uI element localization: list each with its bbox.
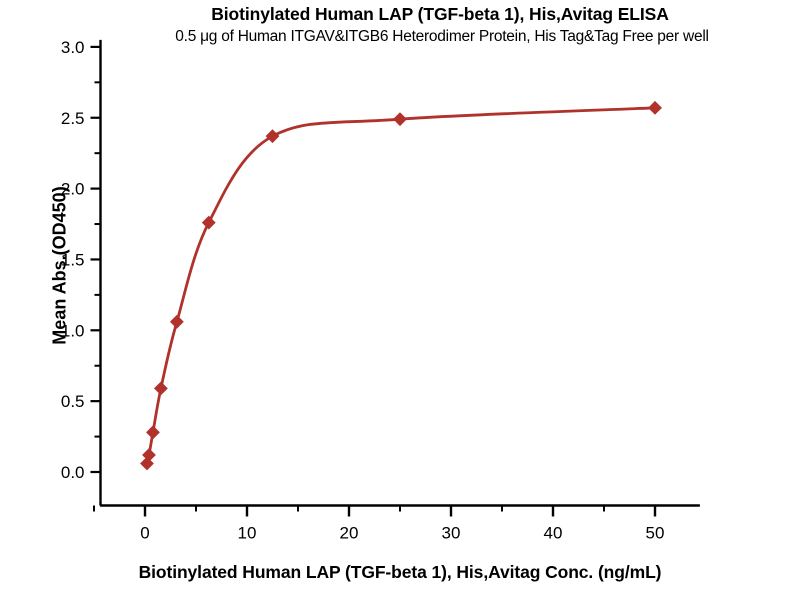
- x-tick-label: 30: [442, 524, 461, 543]
- series-line: [147, 108, 655, 464]
- axes: [91, 40, 700, 517]
- x-tick-label: 10: [238, 524, 257, 543]
- x-tick-label: 0: [140, 524, 149, 543]
- y-tick-label: 1.5: [61, 250, 85, 269]
- y-tick-label: 3.0: [61, 38, 85, 57]
- data-series: [141, 102, 661, 470]
- y-tick-label: 1.0: [61, 321, 85, 340]
- data-point-marker: [155, 382, 167, 394]
- plot-area: 0.00.51.01.52.02.53.001020304050: [0, 0, 800, 600]
- x-tick-label: 50: [646, 524, 665, 543]
- data-point-marker: [266, 130, 278, 142]
- y-tick-label: 0.0: [61, 463, 85, 482]
- y-tick-label: 2.5: [61, 109, 85, 128]
- data-point-marker: [203, 216, 215, 228]
- data-point-marker: [147, 426, 159, 438]
- data-point-marker: [394, 113, 406, 125]
- y-tick-label: 0.5: [61, 392, 85, 411]
- y-tick-label: 2.0: [61, 180, 85, 199]
- x-tick-label: 20: [340, 524, 359, 543]
- chart-figure: Biotinylated Human LAP (TGF-beta 1), His…: [0, 0, 800, 600]
- tick-labels: 0.00.51.01.52.02.53.001020304050: [61, 38, 665, 543]
- data-point-marker: [171, 316, 183, 328]
- data-point-marker: [649, 102, 661, 114]
- x-tick-label: 40: [544, 524, 563, 543]
